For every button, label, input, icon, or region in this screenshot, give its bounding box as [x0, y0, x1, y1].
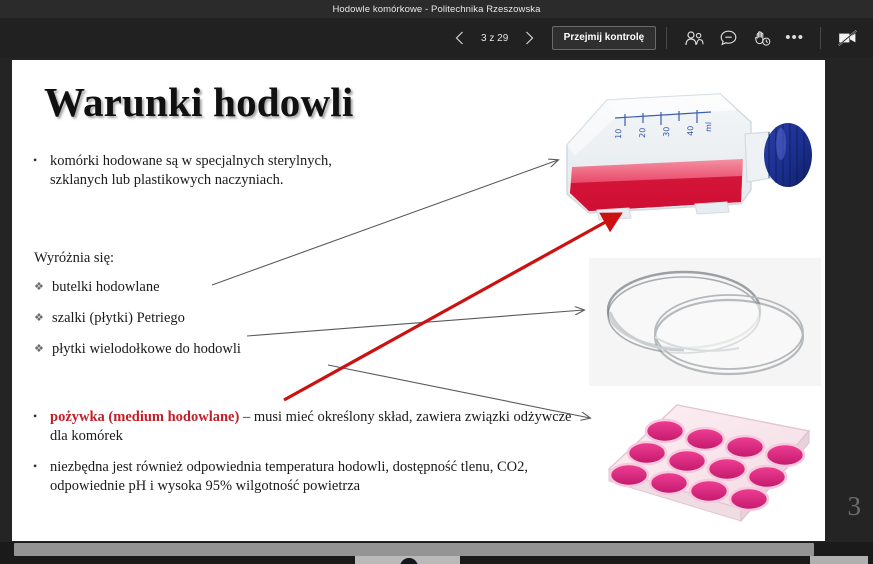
- medium-highlight: pożywka (medium hodowlane): [50, 409, 239, 425]
- culture-flask-photo: 10 20 30 40 ml: [545, 82, 813, 242]
- list-intro-label: Wyróżnia się:: [34, 250, 114, 267]
- people-icon[interactable]: [681, 25, 707, 51]
- svg-text:30: 30: [662, 127, 671, 137]
- bullet-medium: • pożywka (medium hodowlane) – musi mieć…: [33, 408, 578, 446]
- slide-nav-group: 3 z 29: [448, 26, 542, 50]
- bullet-glyph: •: [33, 409, 37, 425]
- bullet-medium-text: pożywka (medium hodowlane) – musi mieć o…: [50, 408, 578, 446]
- list-item-label: szalki (płytki) Petriego: [52, 311, 364, 327]
- svg-text:20: 20: [638, 128, 647, 138]
- bullet-conditions-text: niezbędna jest również odpowiednia tempe…: [50, 458, 593, 495]
- list-item-label: płytki wielodołkowe do hodowli: [52, 342, 364, 358]
- slide-number-badge: 3: [848, 493, 862, 520]
- list-item-label: butelki hodowlane: [52, 280, 364, 296]
- window-title: Hodowle komórkowe - Politechnika Rzeszow…: [332, 4, 540, 15]
- petri-dishes-photo: [589, 258, 821, 386]
- previous-slide-button[interactable]: [448, 26, 472, 50]
- bullet-glyph: •: [33, 459, 37, 474]
- bullet-cells-cultured: • komórki hodowane są w specjalnych ster…: [33, 152, 383, 189]
- powerpoint-slide[interactable]: Warunki hodowli • komórki hodowane są w …: [12, 60, 825, 541]
- diamond-bullet-icon: ❖: [34, 312, 44, 324]
- presentation-toolbar: 3 z 29 Przejmij kontrolę: [0, 18, 873, 58]
- multiwell-plate-photo: [595, 397, 820, 531]
- bullet-cells-cultured-text: komórki hodowane są w specjalnych steryl…: [50, 152, 383, 189]
- more-options-button[interactable]: •••: [785, 34, 804, 42]
- participant-video-tile[interactable]: [355, 556, 460, 564]
- next-slide-button[interactable]: [518, 26, 542, 50]
- window-title-bar: Hodowle komórkowe - Politechnika Rzeszow…: [0, 0, 873, 18]
- toolbar-divider: [666, 27, 667, 49]
- list-item: ❖ butelki hodowlane: [34, 280, 364, 311]
- slide-counter: 3 z 29: [472, 33, 518, 44]
- diamond-bullet-icon: ❖: [34, 343, 44, 355]
- svg-text:40: 40: [686, 126, 695, 136]
- teams-screenshare-window: Hodowle komórkowe - Politechnika Rzeszow…: [0, 0, 873, 564]
- avatar: [400, 558, 418, 564]
- camera-off-icon[interactable]: [835, 25, 861, 51]
- svg-text:ml: ml: [704, 122, 713, 132]
- take-control-button[interactable]: Przejmij kontrolę: [552, 26, 657, 50]
- bullet-glyph: •: [33, 153, 37, 168]
- list-item: ❖ płytki wielodołkowe do hodowli: [34, 342, 364, 373]
- toolbar-divider-2: [820, 27, 821, 49]
- svg-text:10: 10: [614, 129, 623, 139]
- horizontal-scrollbar[interactable]: [14, 543, 814, 556]
- participant-video-tile-secondary[interactable]: [810, 556, 868, 564]
- chat-icon[interactable]: [715, 25, 741, 51]
- list-item: ❖ szalki (płytki) Petriego: [34, 311, 364, 342]
- bullet-conditions: • niezbędna jest również odpowiednia tem…: [33, 458, 593, 495]
- diamond-bullet-icon: ❖: [34, 281, 44, 293]
- page-title: Warunki hodowli: [44, 78, 353, 126]
- raise-hand-icon[interactable]: [749, 25, 775, 51]
- vessel-list: ❖ butelki hodowlane ❖ szalki (płytki) Pe…: [34, 280, 364, 373]
